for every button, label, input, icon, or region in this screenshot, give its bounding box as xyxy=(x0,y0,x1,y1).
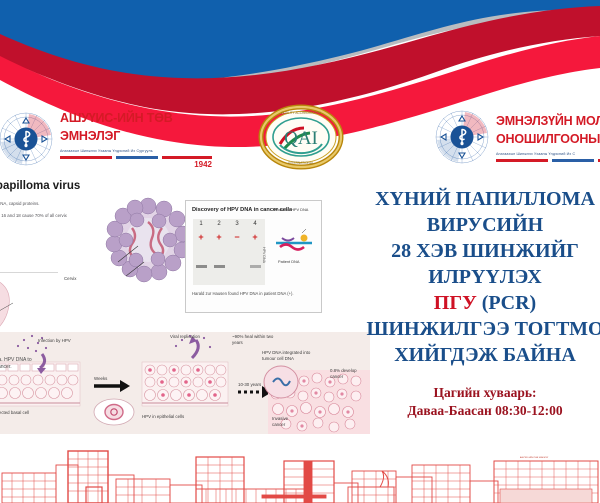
label-infection-by-hpv: Infection by HPV xyxy=(38,338,71,344)
hospital-skyline-illustration: АШУҮИС-ИЙН ТӨВ ЭМНЭЛЭГ xyxy=(0,427,600,503)
logo-title-line1: ЭМНЭЛЗҮЙН МОЛЕК xyxy=(496,114,600,128)
logo-rule xyxy=(496,159,600,162)
probe-hybridization-diagram xyxy=(272,221,320,259)
schedule-label: Цагийн хуваарь: xyxy=(362,384,600,402)
logo-rule xyxy=(60,156,212,159)
headline-line-2: ВИРУСИЙН xyxy=(362,212,600,238)
label-weeks: Weeks xyxy=(94,376,107,382)
hpv-virion-illustration xyxy=(102,196,198,288)
label-10-30-years: 10-30 years xyxy=(238,382,261,388)
logo-title-line1: АШУҮИС-ИЙН ТӨВ xyxy=(60,111,173,125)
gel-band xyxy=(196,265,207,268)
announcement-panel: ХҮНИЙ ПАПИЛЛОМА ВИРУСИЙН 28 ХЭВ ШИНЖИЙГ … xyxy=(362,186,600,420)
logo-subtitle: Анагаахын Шинжлэх Ухааны Үндэсний Их Сур… xyxy=(60,148,212,154)
poster-canvas: АШУҮИС-ИЙН ТӨВ ЭМНЭЛЭГ Анагаахын Шинжлэх… xyxy=(0,0,600,503)
headline-line-1: ХҮНИЙ ПАПИЛЛОМА xyxy=(362,186,600,212)
caduceus-badge-icon xyxy=(0,111,54,167)
headline-line-5: ПГУ (PCR) xyxy=(362,290,600,316)
label-cervix: Cervix xyxy=(64,276,76,282)
logo-year: 1942 xyxy=(60,160,212,169)
hpv-side-note: by HPV epithelial cells in mucosa. HPV D… xyxy=(0,348,32,371)
gel-side-label: HPV DNA xyxy=(262,247,266,263)
headline-line-4: ИЛРҮҮЛЭХ xyxy=(362,264,600,290)
logo-title-line2: ОНОШИЛГООНЫ ТӨВ xyxy=(496,132,600,146)
schedule-block: Цагийн хуваарь: Даваа-Баасан 08:30-12:00 xyxy=(362,384,600,420)
label-hpv-in-epithelial-cells: HPV in epithelial cells xyxy=(142,414,186,420)
headline-line-7: ХИЙГДЭЖ БАЙНА xyxy=(362,342,600,368)
gel-caption: Harald zur Hausen found HPV DNA in patie… xyxy=(192,291,294,297)
logo-text-block: ЭМНЭЛЗҮЙН МОЛЕК ОНОШИЛГООНЫ ТӨВ Анагаахы… xyxy=(496,112,600,162)
cervix-anatomy-inset xyxy=(0,272,58,336)
label-dna-integrated: HPV DNA integrated into tumour cell DNA xyxy=(262,350,320,362)
qai-seal-icon: QAI QUALITY ACCREDITATION INTERNATIONAL xyxy=(258,104,344,170)
gel-lane-sign: − xyxy=(229,232,245,242)
logo-molecular-diagnostics-center: ЭМНЭЛЗҮЙН МОЛЕК ОНОШИЛГООНЫ ТӨВ Анагаахы… xyxy=(434,109,600,165)
gel-band xyxy=(250,265,261,268)
pcr-label-mn: ПГУ xyxy=(434,292,482,314)
label-develop-cancer: 0.8% develop cancer xyxy=(330,368,366,380)
gel-band xyxy=(214,265,225,268)
gel-lane-sign: + xyxy=(247,232,263,242)
pcr-label-en: (PCR) xyxy=(482,292,536,314)
logo-text-block: АШУҮИС-ИЙН ТӨВ ЭМНЭЛЭГ Анагаахын Шинжлэх… xyxy=(60,109,212,169)
label-heal-rate: ~90% heal within two years xyxy=(232,334,278,346)
side-note-body: epithelial cells in mucosa. HPV DNA to t… xyxy=(0,357,32,371)
infographic-bullets: circular, double stranded DNA, capsid pr… xyxy=(0,201,68,224)
gel-lane-number: 3 xyxy=(229,221,245,227)
probe-label: Probe for HPV DNA xyxy=(274,207,308,212)
headline-line-6: ШИНЖИЛГЭЭ ТОГТМО xyxy=(362,316,600,342)
gel-discovery-panel: Discovery of HPV DNA in cancer cells 1 2… xyxy=(185,200,322,313)
headline-line-3: 28 ХЭВ ШИНЖИЙГ xyxy=(362,238,600,264)
svg-text:QAI: QAI xyxy=(284,128,318,149)
logo-title-line2: ЭМНЭЛЭГ xyxy=(60,129,120,143)
svg-text:АШУҮИС-ИЙН ТӨВ ЭМНЭЛЭГ: АШУҮИС-ИЙН ТӨВ ЭМНЭЛЭГ xyxy=(520,456,549,459)
gel-lane-number: 4 xyxy=(247,221,263,227)
infographic-heading: - human papilloma virus xyxy=(0,180,80,192)
label-invasive-cancer: Invasive cancer xyxy=(272,416,302,428)
bullet-item: 100 HPV-types are known. 16 and 18 cause… xyxy=(0,213,68,220)
headline-block: ХҮНИЙ ПАПИЛЛОМА ВИРУСИЙН 28 ХЭВ ШИНЖИЙГ … xyxy=(362,186,600,368)
gel-lane-sign: + xyxy=(193,232,209,242)
label-infected-basal-cell: Infected basal cell xyxy=(0,410,34,416)
svg-text:INTERNATIONAL: INTERNATIONAL xyxy=(288,161,313,165)
gel-lane-sign: + xyxy=(211,232,227,242)
integrated-dna-cell xyxy=(260,362,302,402)
gel-image xyxy=(193,219,265,285)
schedule-hours: Даваа-Баасан 08:30-12:00 xyxy=(362,402,600,420)
bullet-item: circular, double stranded DNA, capsid pr… xyxy=(0,201,68,208)
hpv-infographic: - human papilloma virus circular, double… xyxy=(0,172,370,434)
gel-lane-number: 2 xyxy=(211,221,227,227)
logo-ashuuis-central-hospital: АШУҮИС-ИЙН ТӨВ ЭМНЭЛЭГ Анагаахын Шинжлэх… xyxy=(0,109,212,169)
logo-subtitle: Анагаахын Шинжлэх Ухааны Үндэсний Их С xyxy=(496,151,600,157)
label-viral-replication: Viral replication xyxy=(170,334,202,340)
gel-lane-number: 1 xyxy=(193,221,209,227)
caduceus-badge-icon xyxy=(434,109,490,165)
patient-dna-label: Patient DNA xyxy=(278,259,299,264)
svg-text:QUALITY ACCREDITATION: QUALITY ACCREDITATION xyxy=(281,111,322,115)
